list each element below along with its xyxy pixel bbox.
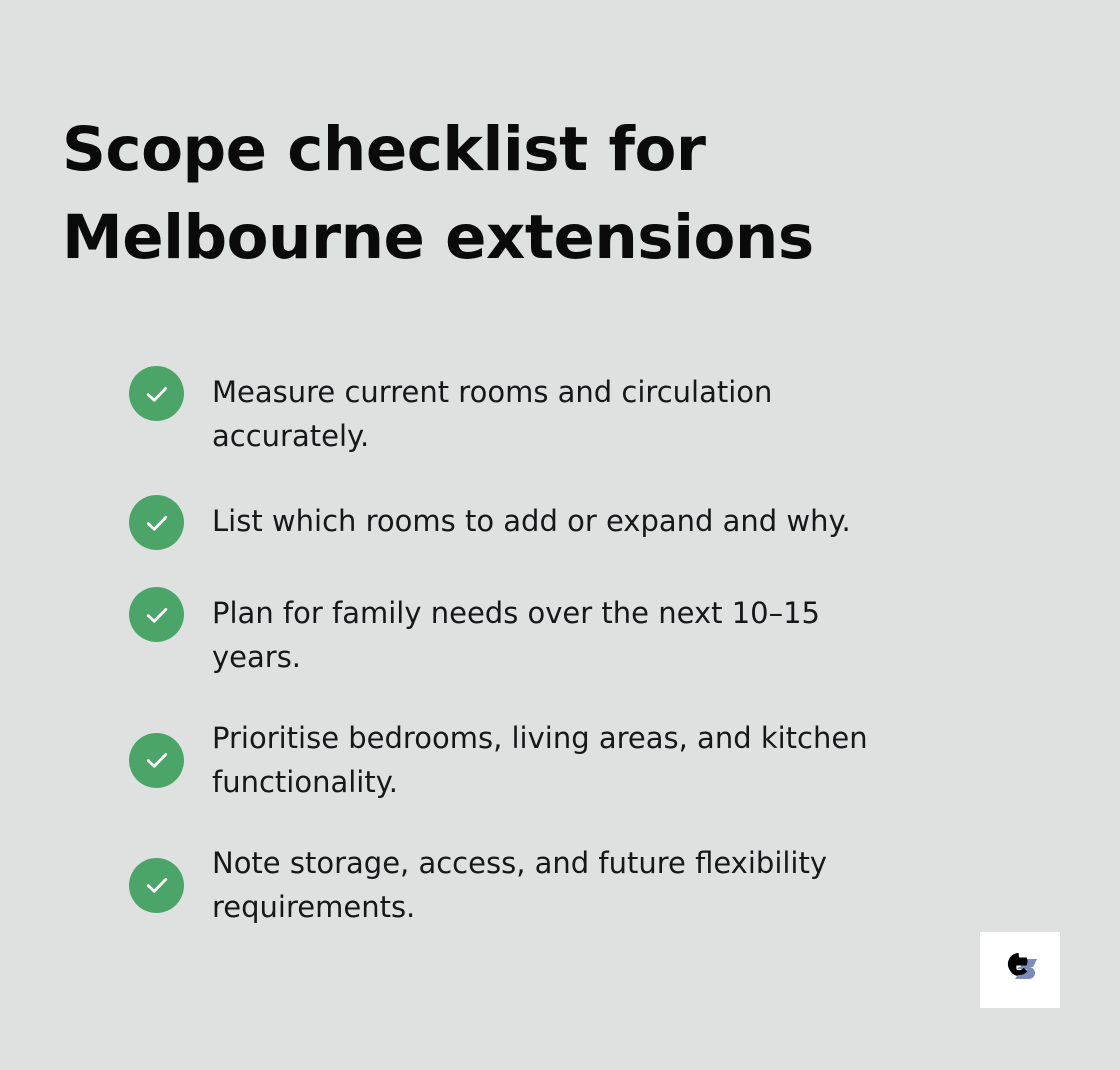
check-icon <box>129 366 184 421</box>
checklist-card: Scope checklist for Melbourne extensions… <box>0 0 1120 1070</box>
list-item: Plan for family needs over the next 10–1… <box>129 587 1029 679</box>
brand-logo-icon <box>997 953 1043 987</box>
check-icon <box>129 495 184 550</box>
list-item-label: Note storage, access, and future flexibi… <box>212 841 912 929</box>
list-item-label: List which rooms to add or expand and wh… <box>212 495 851 543</box>
brand-logo <box>980 932 1060 1008</box>
list-item: Note storage, access, and future flexibi… <box>129 841 1029 929</box>
list-item-label: Plan for family needs over the next 10–1… <box>212 587 912 679</box>
page-title: Scope checklist for Melbourne extensions <box>62 106 1042 282</box>
check-icon <box>129 587 184 642</box>
list-item: Prioritise bedrooms, living areas, and k… <box>129 716 1029 804</box>
check-icon <box>129 858 184 913</box>
list-item-label: Measure current rooms and circulation ac… <box>212 366 912 458</box>
scope-checklist: Measure current rooms and circulation ac… <box>129 366 1029 966</box>
check-icon <box>129 733 184 788</box>
list-item-label: Prioritise bedrooms, living areas, and k… <box>212 716 912 804</box>
list-item: List which rooms to add or expand and wh… <box>129 495 1029 550</box>
list-item: Measure current rooms and circulation ac… <box>129 366 1029 458</box>
